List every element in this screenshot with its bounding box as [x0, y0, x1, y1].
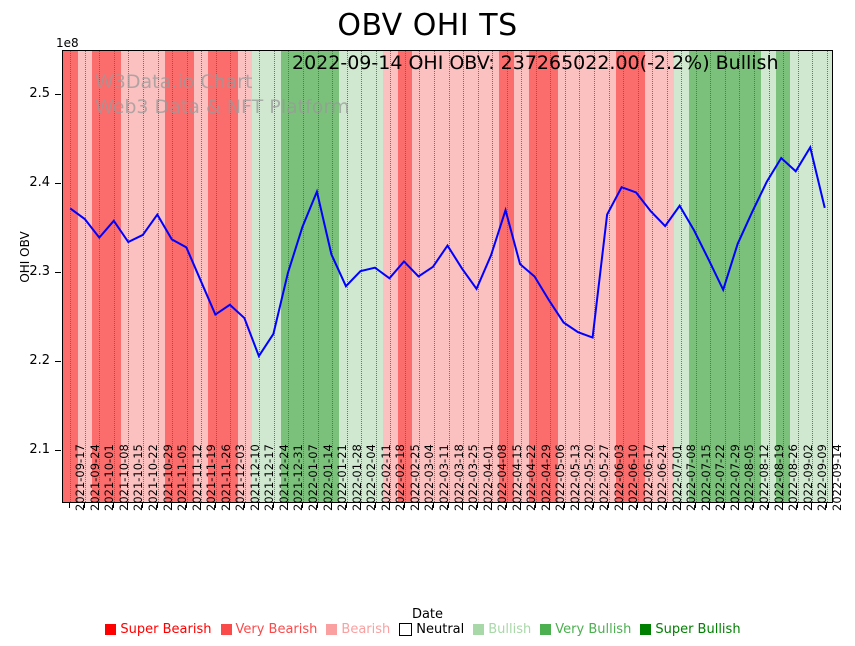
- y-axis-tick-mark: [55, 361, 61, 362]
- x-axis-tick-mark: [448, 503, 449, 508]
- x-axis-tick-label: 2022-04-29: [539, 444, 553, 511]
- x-axis-tick-mark: [98, 503, 99, 508]
- x-axis-tick-mark: [637, 503, 638, 508]
- x-axis-tick-mark: [709, 503, 710, 508]
- legend-item-bearish[interactable]: Bearish: [326, 622, 390, 637]
- legend-label: Very Bullish: [555, 622, 631, 637]
- x-axis-tick-label: 2022-06-10: [626, 444, 640, 511]
- legend-swatch-icon: [473, 624, 484, 635]
- legend-item-very-bearish[interactable]: Very Bearish: [221, 622, 318, 637]
- x-axis-tick-label: 2022-01-28: [350, 444, 364, 511]
- x-axis-tick-mark: [724, 503, 725, 508]
- x-axis-tick-label: 2021-12-24: [277, 444, 291, 511]
- x-axis-tick-mark: [797, 503, 798, 508]
- x-axis-tick-label: 2022-06-03: [612, 444, 626, 511]
- x-axis-tick-label: 2021-12-31: [291, 444, 305, 511]
- x-axis-tick-mark: [549, 503, 550, 508]
- x-axis-tick-mark: [346, 503, 347, 508]
- x-axis-tick-label: 2022-07-08: [684, 444, 698, 511]
- x-axis-tick-mark: [84, 503, 85, 508]
- y-axis-title: OHI OBV: [18, 202, 32, 312]
- chart-title: OBV OHI TS: [0, 8, 855, 43]
- x-axis-tick-mark: [331, 503, 332, 508]
- x-axis-tick-label: 2022-07-29: [728, 444, 742, 511]
- x-axis-tick-label: 2022-02-18: [393, 444, 407, 511]
- x-axis-tick-label: 2022-07-15: [699, 444, 713, 511]
- x-axis-tick-mark: [578, 503, 579, 508]
- x-axis-tick-label: 2022-04-22: [524, 444, 538, 511]
- x-axis-tick-label: 2022-05-13: [568, 444, 582, 511]
- x-axis-tick-label: 2021-10-22: [146, 444, 160, 511]
- x-axis-tick-label: 2021-12-17: [262, 444, 276, 511]
- x-axis-tick-label: 2021-11-26: [219, 444, 233, 511]
- x-axis-tick-label: 2022-02-04: [364, 444, 378, 511]
- y-axis-tick-label: 2.1: [4, 442, 50, 457]
- x-axis-tick-mark: [418, 503, 419, 508]
- x-axis-tick-label: 2022-03-18: [452, 444, 466, 511]
- x-axis-tick-label: 2022-06-24: [655, 444, 669, 511]
- x-axis-tick-label: 2022-06-17: [641, 444, 655, 511]
- obv-line-series: [63, 51, 832, 502]
- legend-label: Very Bearish: [236, 622, 318, 637]
- x-axis-tick-mark: [142, 503, 143, 508]
- x-axis-tick-mark: [244, 503, 245, 508]
- x-axis-tick-mark: [69, 503, 70, 508]
- latest-value-annotation: 2022-09-14 OHI OBV: 237265022.00(-2.2%) …: [292, 52, 779, 74]
- x-axis-tick-label: 2022-02-11: [379, 444, 393, 511]
- x-axis-tick-mark: [287, 503, 288, 508]
- x-axis-tick-label: 2021-09-17: [73, 444, 87, 511]
- x-axis-tick-label: 2022-01-14: [321, 444, 335, 511]
- x-axis-tick-mark: [302, 503, 303, 508]
- legend-label: Bullish: [488, 622, 531, 637]
- x-axis-tick-mark: [127, 503, 128, 508]
- sentiment-legend: Super BearishVery BearishBearishNeutralB…: [0, 622, 855, 637]
- x-axis-tick-label: 2021-12-10: [248, 444, 262, 511]
- x-axis-tick-mark: [782, 503, 783, 508]
- x-axis-tick-label: 2022-09-14: [830, 444, 844, 511]
- legend-item-super-bullish[interactable]: Super Bullish: [640, 622, 740, 637]
- x-axis-tick-mark: [229, 503, 230, 508]
- legend-swatch-icon: [640, 624, 651, 635]
- x-axis-tick-label: 2022-01-07: [306, 444, 320, 511]
- x-axis-tick-mark: [215, 503, 216, 508]
- x-axis-tick-label: 2022-08-26: [786, 444, 800, 511]
- x-axis-tick-mark: [200, 503, 201, 508]
- x-axis-tick-label: 2021-10-15: [131, 444, 145, 511]
- x-axis-tick-mark: [622, 503, 623, 508]
- x-axis-tick-mark: [477, 503, 478, 508]
- y-axis-tick-mark: [55, 272, 61, 273]
- x-axis-tick-mark: [608, 503, 609, 508]
- x-axis-tick-label: 2021-10-01: [102, 444, 116, 511]
- x-axis-tick-mark: [389, 503, 390, 508]
- x-axis-tick-mark: [157, 503, 158, 508]
- obv-line-path: [70, 147, 824, 356]
- x-axis-tick-label: 2021-10-29: [161, 444, 175, 511]
- x-axis-tick-label: 2022-08-05: [742, 444, 756, 511]
- x-axis-tick-mark: [360, 503, 361, 508]
- x-axis-tick-mark: [680, 503, 681, 508]
- x-axis-tick-mark: [768, 503, 769, 508]
- x-axis-tick-mark: [753, 503, 754, 508]
- x-axis-tick-mark: [462, 503, 463, 508]
- legend-swatch-icon: [399, 623, 412, 636]
- x-axis-tick-mark: [593, 503, 594, 508]
- x-axis-tick-mark: [564, 503, 565, 508]
- x-axis-tick-label: 2021-11-12: [190, 444, 204, 511]
- x-axis-tick-mark: [186, 503, 187, 508]
- x-axis: 2021-09-172021-09-242021-10-012021-10-08…: [0, 503, 855, 608]
- x-axis-tick-mark: [113, 503, 114, 508]
- x-axis-tick-mark: [811, 503, 812, 508]
- x-axis-tick-label: 2022-03-25: [466, 444, 480, 511]
- x-axis-tick-label: 2021-10-08: [117, 444, 131, 511]
- legend-label: Neutral: [416, 622, 464, 637]
- y-axis-offset-label: 1e8: [56, 36, 79, 50]
- x-axis-tick-mark: [651, 503, 652, 508]
- y-axis-tick-mark: [55, 450, 61, 451]
- x-axis-tick-mark: [738, 503, 739, 508]
- y-axis-tick-label: 2.4: [4, 175, 50, 190]
- x-axis-tick-label: 2022-04-15: [510, 444, 524, 511]
- x-axis-tick-mark: [375, 503, 376, 508]
- x-axis-tick-mark: [404, 503, 405, 508]
- x-axis-tick-label: 2022-08-19: [772, 444, 786, 511]
- legend-swatch-icon: [105, 624, 116, 635]
- x-axis-tick-mark: [433, 503, 434, 508]
- y-axis-tick-mark: [55, 94, 61, 95]
- x-axis-tick-mark: [826, 503, 827, 508]
- legend-swatch-icon: [221, 624, 232, 635]
- x-axis-tick-mark: [535, 503, 536, 508]
- legend-label: Super Bearish: [120, 622, 211, 637]
- x-axis-tick-label: 2022-09-09: [815, 444, 829, 511]
- x-axis-tick-label: 2022-05-27: [597, 444, 611, 511]
- x-axis-tick-mark: [273, 503, 274, 508]
- x-axis-tick-label: 2021-09-24: [88, 444, 102, 511]
- x-axis-title: Date: [0, 607, 855, 622]
- y-axis-tick-label: 2.2: [4, 353, 50, 368]
- x-axis-tick-label: 2022-07-22: [713, 444, 727, 511]
- x-axis-tick-mark: [695, 503, 696, 508]
- x-axis-tick-mark: [171, 503, 172, 508]
- x-axis-tick-mark: [491, 503, 492, 508]
- legend-item-super-bearish[interactable]: Super Bearish: [105, 622, 211, 637]
- x-axis-tick-label: 2021-11-05: [175, 444, 189, 511]
- legend-swatch-icon: [540, 624, 551, 635]
- x-axis-tick-label: 2022-05-20: [582, 444, 596, 511]
- legend-item-bullish[interactable]: Bullish: [473, 622, 531, 637]
- x-axis-tick-mark: [317, 503, 318, 508]
- x-axis-tick-label: 2022-07-01: [670, 444, 684, 511]
- x-axis-tick-label: 2022-04-08: [495, 444, 509, 511]
- x-axis-tick-label: 2022-04-01: [481, 444, 495, 511]
- legend-item-neutral[interactable]: Neutral: [399, 622, 464, 637]
- plot-area: [62, 50, 833, 503]
- x-axis-tick-label: 2022-01-21: [335, 444, 349, 511]
- legend-swatch-icon: [326, 624, 337, 635]
- x-axis-tick-mark: [506, 503, 507, 508]
- legend-label: Bearish: [341, 622, 390, 637]
- x-axis-tick-label: 2022-05-06: [553, 444, 567, 511]
- x-axis-tick-mark: [258, 503, 259, 508]
- x-axis-tick-label: 2022-02-25: [408, 444, 422, 511]
- x-axis-tick-label: 2022-08-12: [757, 444, 771, 511]
- x-axis-tick-label: 2022-03-11: [437, 444, 451, 511]
- y-axis-tick-mark: [55, 183, 61, 184]
- y-axis-tick-label: 2.5: [4, 86, 50, 101]
- x-axis-tick-label: 2022-09-02: [801, 444, 815, 511]
- x-axis-tick-mark: [520, 503, 521, 508]
- x-axis-tick-label: 2021-12-03: [233, 444, 247, 511]
- legend-label: Super Bullish: [655, 622, 740, 637]
- x-axis-tick-label: 2021-11-19: [204, 444, 218, 511]
- x-axis-tick-label: 2022-03-04: [422, 444, 436, 511]
- legend-item-very-bullish[interactable]: Very Bullish: [540, 622, 631, 637]
- x-axis-tick-mark: [666, 503, 667, 508]
